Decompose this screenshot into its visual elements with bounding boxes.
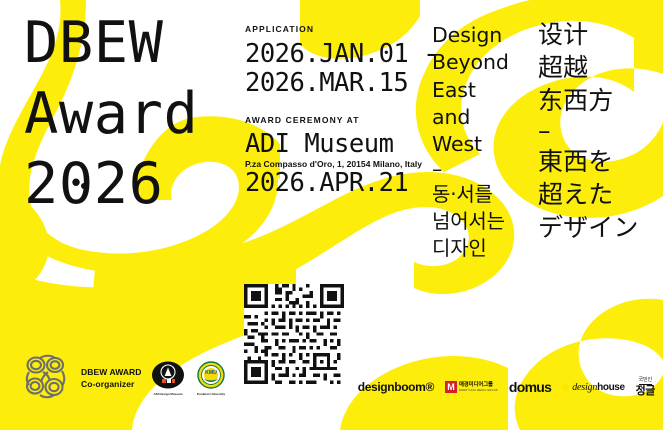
designboom-registered-mark: ® [425,380,433,394]
info-spacer [245,97,425,115]
event-info-column: APPLICATION 2026.JAN.01 - 2026.MAR.15 AW… [245,24,425,197]
title-line-1: DBEW [24,16,264,71]
tagline-ja-line-2: 超えた [538,178,658,211]
domus-wordmark: domus [509,379,551,395]
sponsor-maekyung-media-group: M 매경미디어그룹 MAEKYUNG MEDIA GROUP [445,381,498,393]
sponsor-logos: designboom ® M 매경미디어그룹 MAEKYUNG MEDIA GR… [358,378,655,396]
tagline-english-korean: Design Beyond East and West – 동·서를 넘어서는 … [432,22,528,262]
tagline-en-line-3: East [432,77,528,104]
maekyung-label-en: MAEKYUNG MEDIA GROUP [459,389,498,392]
organizer-caption: DBEW AWARD Co-organizer [81,366,142,391]
title-line-3: 2026 [24,157,264,212]
sponsor-domus: domus [509,379,551,395]
sponsor-designhouse: design house [562,382,624,393]
ceremony-date: 2026.APR.21 [245,169,425,198]
tagline-zh-line-2: 超越 [538,51,658,84]
tagline-zh-line-3: 东西方 [538,84,658,117]
maekyung-m-icon: M [445,381,457,393]
designhouse-label-house: house [597,382,624,393]
title-line-2: Award [24,87,264,142]
kookmin-university-logo: KMU Kookmin University [194,361,228,396]
tagline-en-line-5: West [432,131,528,158]
tagline-en-divider: – [432,158,528,181]
tagline-ja-line-3: デザイン [538,211,658,244]
tagline-en-line-2: Beyond [432,49,528,76]
zero-dot-glyph [81,183,87,189]
organizer-block: DBEW AWARD Co-organizer ADI Design Museu… [20,352,228,404]
adi-museum-icon [151,361,185,391]
adi-museum-caption: ADI Design Museum [151,392,183,396]
tagline-kr-line-3: 디자인 [432,235,528,262]
poster-title: DBEW Award 2026 [24,16,264,212]
tagline-kr-line-1: 동·서를 [432,181,528,208]
tagline-chinese-japanese: 设计 超越 东西方 – 東西を 超えた デザイン [538,18,658,244]
organizer-caption-line-1: DBEW AWARD [81,366,142,378]
poster-canvas: DBEW Award 2026 APPLICATION 2026.JAN.01 … [0,0,663,430]
designboom-wordmark: designboom [358,380,426,394]
qr-code-image[interactable] [244,284,344,384]
kookmin-university-caption: Kookmin University [194,392,226,396]
tagline-ja-line-1: 東西を [538,145,658,178]
ceremony-eyebrow: AWARD CEREMONY AT [245,115,425,125]
tagline-kr-line-2: 넘어서는 [432,208,528,235]
tagline-zh-line-1: 设计 [538,18,658,51]
tagline-en-line-1: Design [432,22,528,49]
application-eyebrow: APPLICATION [245,24,425,34]
sponsor-jungle: 국민인 정글 [636,378,655,396]
tagline-cjk-divider: – [538,117,658,145]
jungle-label-main: 정글 [636,385,655,396]
kookmin-university-icon: KMU [194,361,228,391]
sponsor-designboom: designboom ® [358,380,434,394]
title-year-text: 2026 [24,151,164,217]
tagline-en-line-4: and [432,104,528,131]
maekyung-wordmark: 매경미디어그룹 MAEKYUNG MEDIA GROUP [459,383,498,392]
application-date-end: 2026.MAR.15 [245,69,425,98]
svg-text:KMU: KMU [205,370,217,376]
organizer-caption-line-2: Co-organizer [81,378,142,390]
designhouse-label-design: design [572,382,597,393]
adi-design-museum-logo: ADI Design Museum [151,361,185,396]
application-date-start: 2026.JAN.01 - [245,40,425,69]
dbew-logo-mark [20,352,72,404]
qr-code[interactable] [244,284,344,384]
ceremony-venue: ADI Museum [245,131,425,158]
designhouse-dot-icon [562,384,569,391]
